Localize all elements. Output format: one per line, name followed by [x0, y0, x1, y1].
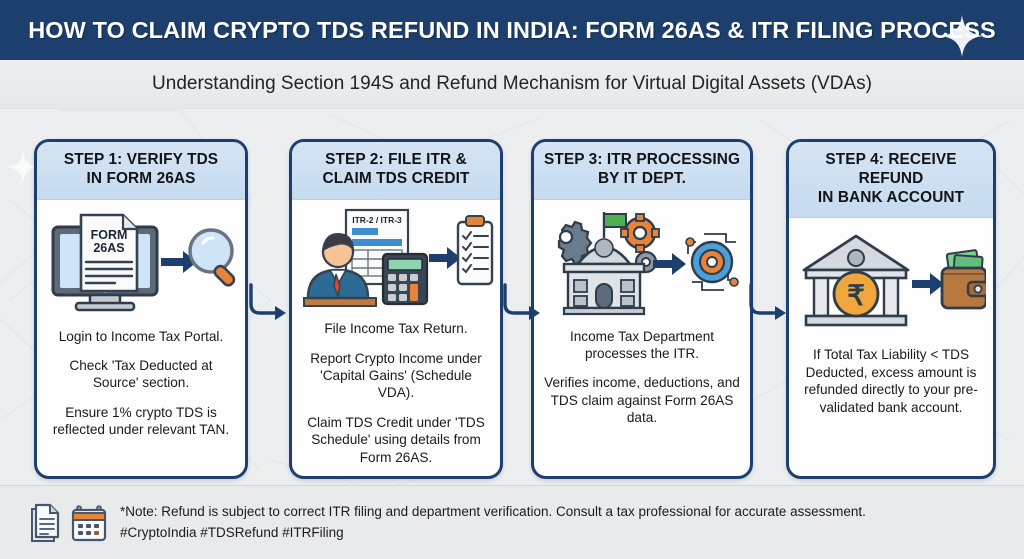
footer-note: *Note: Refund is subject to correct ITR … — [120, 502, 866, 522]
step-1-body: Login to Income Tax Portal. Check 'Tax D… — [37, 322, 245, 449]
step-2-text-2: Report Crypto Income under 'Capital Gain… — [302, 350, 490, 402]
arrow-right-icon — [912, 273, 944, 295]
document-icon — [28, 503, 62, 543]
infographic-page: HOW TO CLAIM CRYPTO TDS REFUND IN INDIA:… — [0, 0, 1024, 559]
step-3-illustration — [534, 200, 750, 322]
step-3-text-1: Income Tax Department processes the ITR. — [544, 328, 740, 363]
step-card-3[interactable]: STEP 3: ITR PROCESSING BY IT DEPT. — [531, 139, 753, 479]
step-2-body: File Income Tax Return. Report Crypto In… — [292, 314, 500, 476]
step-4-text-1: If Total Tax Liability < TDS Deducted, e… — [799, 346, 983, 416]
page-title: HOW TO CLAIM CRYPTO TDS REFUND IN INDIA:… — [28, 17, 996, 44]
magnifier-icon — [190, 230, 236, 287]
step-3-heading-line2: BY IT DEPT. — [540, 170, 744, 189]
step-1-illustration: FORM 26AS — [37, 200, 245, 322]
step-4-body: If Total Tax Liability < TDS Deducted, e… — [789, 340, 993, 426]
svg-text:26AS: 26AS — [93, 241, 124, 255]
step-2-header: STEP 2: FILE ITR & CLAIM TDS CREDIT — [292, 142, 500, 200]
step-3-text-2: Verifies income, deductions, and TDS cla… — [544, 374, 740, 426]
connector-arrow-1 — [248, 282, 292, 324]
step-2-heading-line2: CLAIM TDS CREDIT — [298, 170, 494, 189]
sparkle-icon-footer — [940, 14, 984, 58]
step-4-header: STEP 4: RECEIVE REFUND IN BANK ACCOUNT — [789, 142, 993, 218]
checklist-clipboard-icon — [458, 216, 492, 284]
svg-text:₹: ₹ — [847, 280, 865, 311]
step-1-text-2: Check 'Tax Deducted at Source' section. — [47, 357, 235, 392]
step-1-header: STEP 1: VERIFY TDS IN FORM 26AS — [37, 142, 245, 200]
arrow-right-icon — [653, 253, 686, 275]
svg-text:ITR-2 / ITR-3: ITR-2 / ITR-3 — [352, 215, 402, 225]
step-1-text-1: Login to Income Tax Portal. — [47, 328, 235, 345]
calendar-icon — [71, 503, 107, 543]
step-1-text-3: Ensure 1% crypto TDS is reflected under … — [47, 404, 235, 439]
step-4-illustration: ₹ — [789, 218, 993, 340]
step-3-body: Income Tax Department processes the ITR.… — [534, 322, 750, 437]
step-2-text-1: File Income Tax Return. — [302, 320, 490, 337]
processing-node-icon — [686, 234, 738, 290]
footer-text: *Note: Refund is subject to correct ITR … — [120, 502, 866, 543]
step-4-heading-line1: STEP 4: RECEIVE REFUND — [795, 151, 987, 189]
step-3-heading-line1: STEP 3: ITR PROCESSING — [540, 151, 744, 170]
step-card-2[interactable]: STEP 2: FILE ITR & CLAIM TDS CREDIT ITR-… — [289, 139, 503, 479]
header-subtitle-bar: Understanding Section 194S and Refund Me… — [0, 60, 1024, 109]
footer-icons — [28, 503, 107, 543]
step-1-heading-line1: STEP 1: VERIFY TDS — [43, 151, 239, 170]
svg-text:FORM: FORM — [91, 228, 128, 242]
step-1-heading-line2: IN FORM 26AS — [43, 170, 239, 189]
wallet-icon — [942, 250, 986, 308]
step-card-4[interactable]: STEP 4: RECEIVE REFUND IN BANK ACCOUNT — [786, 139, 996, 479]
footer-hashtags: #CryptoIndia #TDSRefund #ITRFiling — [120, 523, 866, 543]
step-2-text-3: Claim TDS Credit under 'TDS Schedule' us… — [302, 414, 490, 466]
step-3-header: STEP 3: ITR PROCESSING BY IT DEPT. — [534, 142, 750, 200]
footer-note-bar: *Note: Refund is subject to correct ITR … — [0, 485, 1024, 559]
bank-icon: ₹ — [804, 236, 908, 325]
step-4-heading-line2: IN BANK ACCOUNT — [795, 189, 987, 208]
form-26as-document-icon: FORM 26AS — [81, 215, 137, 291]
arrow-right-icon — [429, 247, 461, 269]
header-title-bar: HOW TO CLAIM CRYPTO TDS REFUND IN INDIA:… — [0, 0, 1024, 60]
connector-arrow-3 — [748, 282, 792, 324]
calculator-icon — [383, 254, 427, 304]
step-2-illustration: ITR-2 / ITR-3 — [292, 200, 500, 315]
step-2-heading-line1: STEP 2: FILE ITR & — [298, 151, 494, 170]
connector-arrow-2 — [502, 282, 546, 324]
page-subtitle: Understanding Section 194S and Refund Me… — [152, 73, 872, 95]
step-card-1[interactable]: STEP 1: VERIFY TDS IN FORM 26AS — [34, 139, 248, 479]
